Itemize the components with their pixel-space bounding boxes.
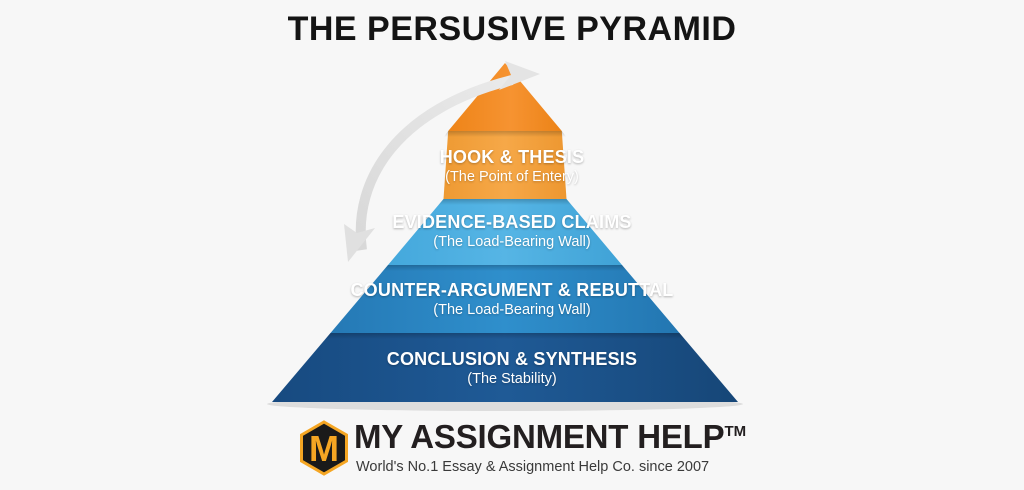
trademark-symbol: TM	[724, 423, 746, 440]
brand-tagline: World's No.1 Essay & Assignment Help Co.…	[356, 459, 709, 475]
pyramid-tier-counter-argument-rebuttal	[331, 265, 680, 333]
hexagon-m-icon: M	[296, 420, 352, 476]
monogram-letter: M	[309, 428, 339, 469]
tier-shade-3	[383, 265, 627, 271]
brand-wordmark: MY ASSIGNMENT HELPTM	[354, 418, 746, 456]
infographic-canvas: THE PERSUSIVE PYRAMID	[0, 0, 1024, 490]
pyramid-graphic	[0, 0, 1024, 490]
tier-shade-4	[326, 333, 685, 339]
brand-logo[interactable]: M MY ASSIGNMENT HELPTM World's No.1 Essa…	[296, 418, 756, 486]
tier-shade-1	[444, 131, 567, 137]
tier-shade-2	[439, 199, 572, 205]
pyramid-tier-conclusion-synthesis	[272, 333, 738, 402]
pyramid-tier-evidence-based-claims	[388, 199, 622, 265]
brand-wordmark-text: MY ASSIGNMENT HELP	[354, 418, 724, 455]
pyramid-tier-hook-thesis-body	[444, 131, 567, 199]
